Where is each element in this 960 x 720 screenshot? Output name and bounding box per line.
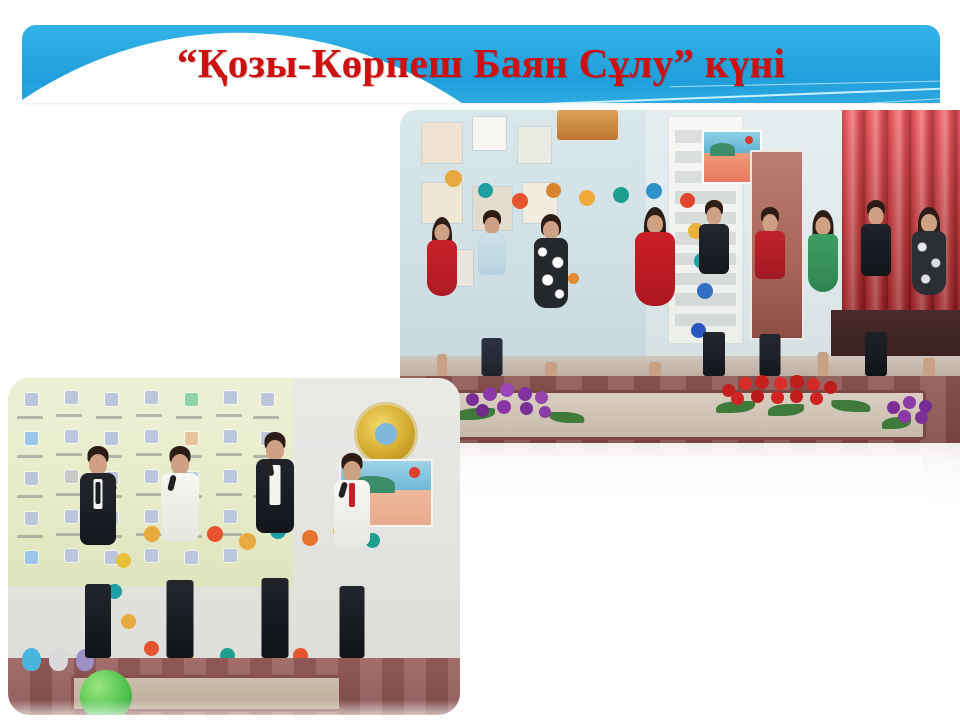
plush-toy [22,648,41,671]
person-boy-black-suit [856,203,895,376]
person-boy-black-suit-white-shirt [248,435,302,657]
person-girl-red-dress [422,220,461,377]
pom-pom-decoration [613,187,629,203]
wall-poster [422,123,461,163]
wall-decor-wreath [557,110,619,140]
pom-pom-decoration [546,183,561,198]
wall-poster [473,117,507,150]
title-banner: “Қозы-Көрпеш Баян Сұлу” күні [22,25,940,103]
wall-poster [518,127,552,164]
photo-boys-singing [8,378,460,715]
banner-accent-line [400,87,940,103]
slide-reflection-sheen [400,443,960,543]
presentation-slide: “Қозы-Көрпеш Баян Сұлу” күні [0,0,960,720]
pom-pom-decoration [302,530,318,546]
pom-pom-decoration [445,170,462,187]
person-girl-red-dress [632,210,677,377]
person-boy-black-suit [694,203,733,376]
person-boy-black-suit-tie [71,449,125,658]
red-rose-bouquet [719,370,870,423]
person-girl-patterned-dress [907,210,952,377]
photo-top-scene [400,110,960,443]
plush-toy [49,648,68,671]
photo-bottom-scene [8,378,460,715]
reflection-fade-mask [400,443,960,529]
purple-flower-bouquet [882,390,955,437]
pom-pom-decoration [579,190,595,206]
person-girl-green-dress [803,213,842,376]
slide-title: “Қозы-Көрпеш Баян Сұлу” күні [22,39,940,87]
photo-top-reflection [400,443,960,529]
purple-flower-bouquet [462,376,580,433]
person-boy-blue-shirt [473,213,512,376]
person-boy-white-shirt-red-tie [324,456,378,658]
person-boy-white-shirt [153,449,207,658]
photo-stage-students [400,110,960,443]
kazakhstan-emblem [357,405,415,463]
person-boy-red-blazer [750,210,789,377]
person-girl-patterned-dress [529,217,574,377]
